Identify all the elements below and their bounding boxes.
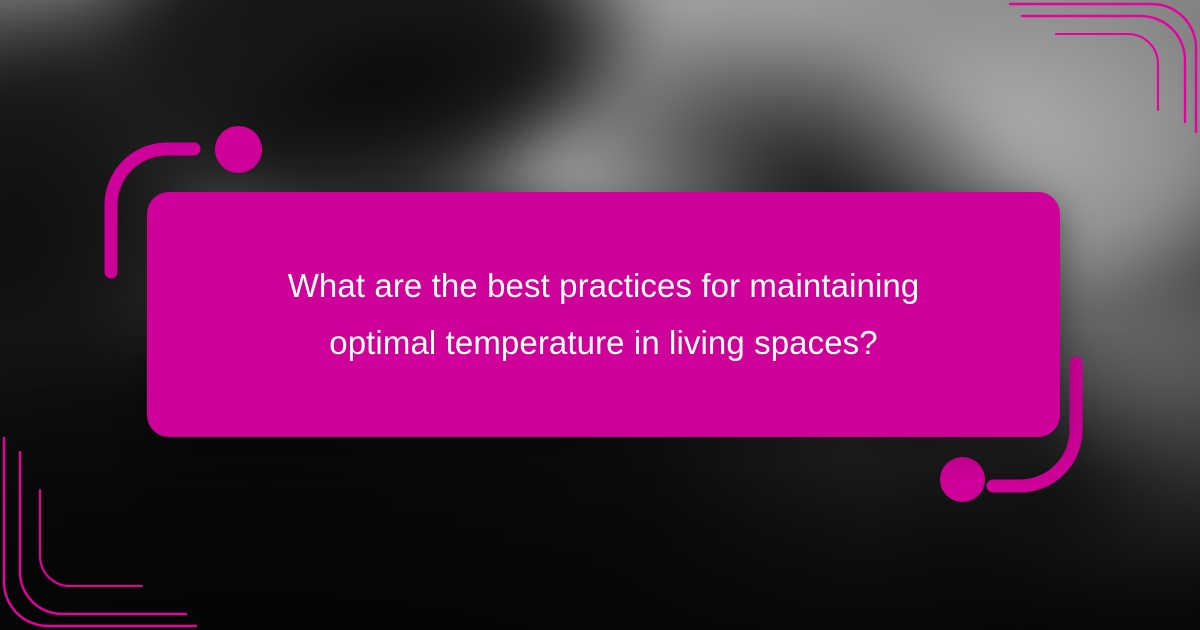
dot-accent-top-icon	[215, 126, 262, 173]
question-card-graphic: What are the best practices for maintain…	[0, 0, 1200, 630]
question-text: What are the best practices for maintain…	[288, 258, 920, 372]
question-card: What are the best practices for maintain…	[147, 192, 1060, 437]
dot-accent-bottom-icon	[940, 457, 985, 502]
